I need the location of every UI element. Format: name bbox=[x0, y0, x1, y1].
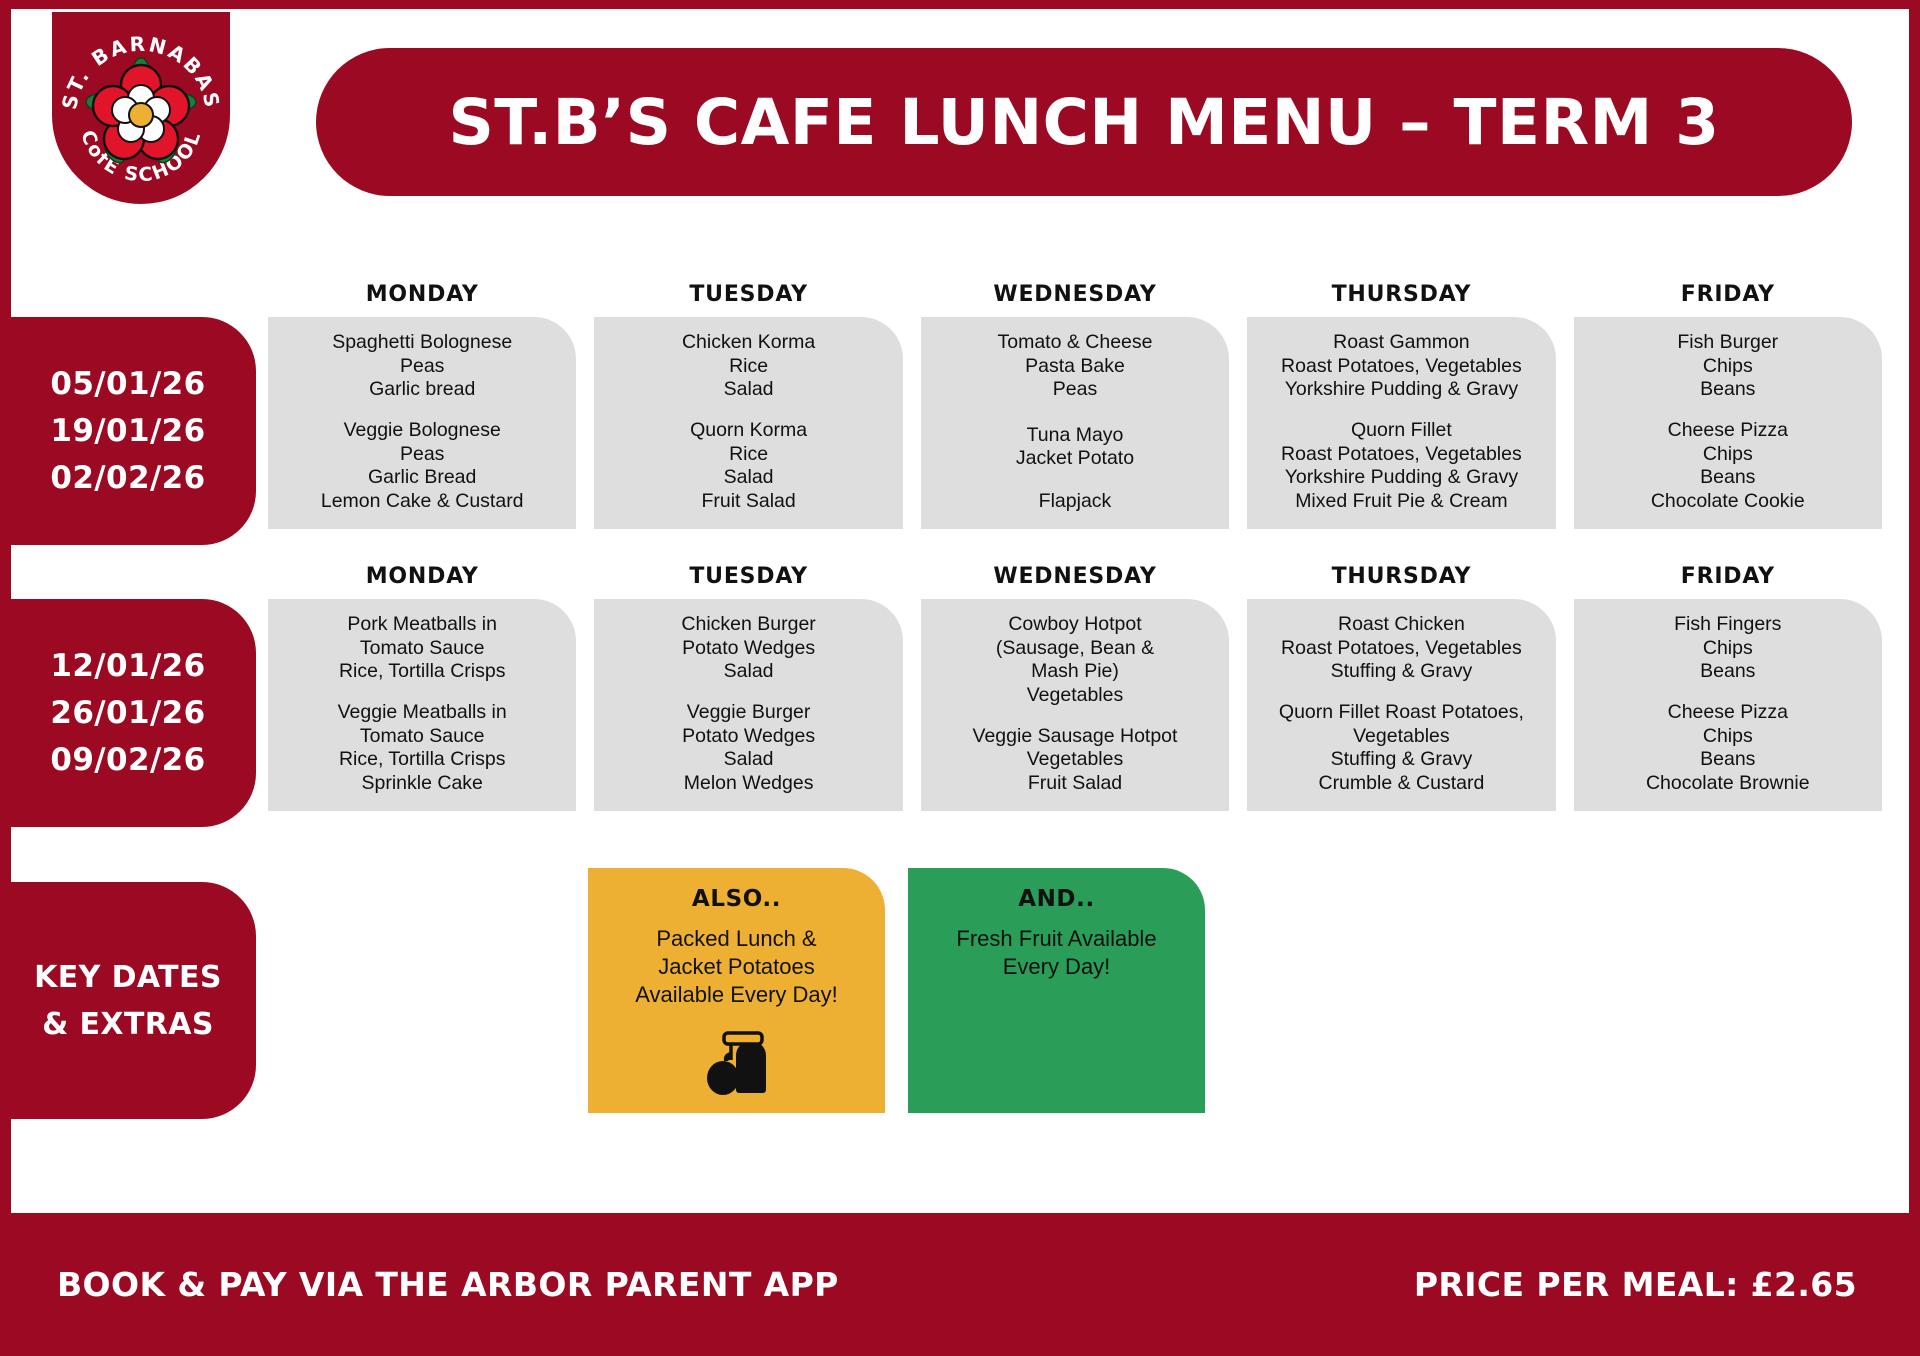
day-menu-card: Roast ChickenRoast Potatoes, VegetablesS… bbox=[1247, 599, 1555, 811]
menu-alt-line: Veggie Sausage Hotpot bbox=[929, 725, 1221, 749]
menu-alt-line: Jacket Potato bbox=[929, 447, 1221, 471]
day-menu-card: Chicken BurgerPotato WedgesSaladVeggie B… bbox=[594, 599, 902, 811]
menu-main-line: Fish Fingers bbox=[1582, 613, 1874, 637]
promo-card-fresh-fruit: AND.. Fresh Fruit Available Every Day! bbox=[908, 868, 1205, 1113]
page-title: ST.B’S CAFE LUNCH MENU – TERM 3 bbox=[448, 86, 1719, 159]
menu-dessert-line: Melon Wedges bbox=[602, 772, 894, 800]
menu-alt-line: Quorn Fillet Roast Potatoes, bbox=[1255, 701, 1547, 725]
menu-main-line: Fish Burger bbox=[1582, 331, 1874, 355]
key-dates-line-1: KEY DATES bbox=[34, 954, 222, 1001]
menu-main-line: Mash Pie) bbox=[929, 660, 1221, 684]
week2-date-3: 09/02/26 bbox=[50, 737, 205, 784]
menu-main-line: Salad bbox=[602, 378, 894, 402]
day-header-label: WEDNESDAY bbox=[921, 564, 1229, 589]
menu-dessert-line: Flapjack bbox=[929, 490, 1221, 518]
key-dates-extras-badge: KEY DATES & EXTRAS bbox=[0, 882, 256, 1119]
menu-group-spacer bbox=[276, 402, 568, 420]
promo-also-heading: ALSO.. bbox=[598, 886, 875, 912]
menu-main-line: Tomato & Cheese bbox=[929, 331, 1221, 355]
menu-main-line: Chips bbox=[1582, 637, 1874, 661]
menu-alt-line: Veggie Meatballs in bbox=[276, 701, 568, 725]
day-menu-card: Cowboy Hotpot(Sausage, Bean &Mash Pie)Ve… bbox=[921, 599, 1229, 811]
week1-dates-badge: 05/01/26 19/01/26 02/02/26 bbox=[0, 317, 256, 545]
promo-also-line-1: Packed Lunch & bbox=[598, 925, 875, 953]
day-menu-card: Fish FingersChipsBeansCheese PizzaChipsB… bbox=[1574, 599, 1882, 811]
day-column-friday: FRIDAYFish FingersChipsBeansCheese Pizza… bbox=[1574, 564, 1882, 811]
week1-date-1: 05/01/26 bbox=[50, 361, 205, 408]
menu-alt-line: Beans bbox=[1582, 466, 1874, 490]
menu-dessert-line: Fruit Salad bbox=[602, 490, 894, 518]
menu-title-banner: ST.B’S CAFE LUNCH MENU – TERM 3 bbox=[316, 48, 1852, 196]
day-header-label: MONDAY bbox=[268, 282, 576, 307]
menu-main-line: Chips bbox=[1582, 355, 1874, 379]
menu-dessert-line: Lemon Cake & Custard bbox=[276, 490, 568, 518]
menu-main-line: Rice bbox=[602, 355, 894, 379]
menu-main-line: Roast Potatoes, Vegetables bbox=[1255, 637, 1547, 661]
menu-main-line: Chicken Korma bbox=[602, 331, 894, 355]
footer-price-text: PRICE PER MEAL: £2.65 bbox=[1414, 1265, 1857, 1304]
week1-menu-grid: MONDAYSpaghetti BolognesePeasGarlic brea… bbox=[268, 282, 1882, 529]
day-header-label: FRIDAY bbox=[1574, 564, 1882, 589]
menu-group-spacer bbox=[929, 707, 1221, 725]
menu-group-spacer bbox=[602, 684, 894, 702]
school-crest-logo: ST. BARNABAS CofE SCHOOL bbox=[52, 12, 230, 204]
week2-dates-badge: 12/01/26 26/01/26 09/02/26 bbox=[0, 599, 256, 827]
day-menu-card: Pork Meatballs inTomato SauceRice, Torti… bbox=[268, 599, 576, 811]
menu-alt-line: Potato Wedges bbox=[602, 725, 894, 749]
menu-dessert-line: Sprinkle Cake bbox=[276, 772, 568, 800]
menu-main-line: Roast Chicken bbox=[1255, 613, 1547, 637]
day-menu-card: Fish BurgerChipsBeansCheese PizzaChipsBe… bbox=[1574, 317, 1882, 529]
menu-main-line: Stuffing & Gravy bbox=[1255, 660, 1547, 684]
day-menu-card: Spaghetti BolognesePeasGarlic breadVeggi… bbox=[268, 317, 576, 529]
day-header-label: TUESDAY bbox=[594, 282, 902, 307]
day-menu-card: Roast GammonRoast Potatoes, VegetablesYo… bbox=[1247, 317, 1555, 529]
week2-date-1: 12/01/26 bbox=[50, 643, 205, 690]
day-column-friday: FRIDAYFish BurgerChipsBeansCheese PizzaC… bbox=[1574, 282, 1882, 529]
menu-group-spacer bbox=[929, 402, 1221, 424]
menu-dessert-line: Fruit Salad bbox=[929, 772, 1221, 800]
menu-alt-line: Cheese Pizza bbox=[1582, 701, 1874, 725]
week1-date-3: 02/02/26 bbox=[50, 455, 205, 502]
crest-icon: ST. BARNABAS CofE SCHOOL bbox=[52, 12, 230, 204]
menu-alt-line: Veggie Bolognese bbox=[276, 419, 568, 443]
menu-main-line: Cowboy Hotpot bbox=[929, 613, 1221, 637]
day-header-label: THURSDAY bbox=[1247, 564, 1555, 589]
menu-alt-line: Salad bbox=[602, 748, 894, 772]
footer-booking-text: BOOK & PAY VIA THE ARBOR PARENT APP bbox=[57, 1265, 839, 1304]
promo-and-line-1: Fresh Fruit Available bbox=[918, 925, 1195, 953]
key-dates-line-2: & EXTRAS bbox=[42, 1001, 214, 1048]
menu-main-line: Potato Wedges bbox=[602, 637, 894, 661]
day-menu-card: Chicken KormaRiceSaladQuorn KormaRiceSal… bbox=[594, 317, 902, 529]
week2-menu-grid: MONDAYPork Meatballs inTomato SauceRice,… bbox=[268, 564, 1882, 811]
menu-alt-line: Vegetables bbox=[929, 748, 1221, 772]
menu-alt-line: Veggie Burger bbox=[602, 701, 894, 725]
menu-main-line: Rice, Tortilla Crisps bbox=[276, 660, 568, 684]
day-column-tuesday: TUESDAYChicken BurgerPotato WedgesSaladV… bbox=[594, 564, 902, 811]
menu-alt-line: Chips bbox=[1582, 443, 1874, 467]
menu-alt-line: Roast Potatoes, Vegetables bbox=[1255, 443, 1547, 467]
menu-alt-line: Yorkshire Pudding & Gravy bbox=[1255, 466, 1547, 490]
menu-alt-line: Chips bbox=[1582, 725, 1874, 749]
day-column-tuesday: TUESDAYChicken KormaRiceSaladQuorn Korma… bbox=[594, 282, 902, 529]
promo-and-line-2: Every Day! bbox=[918, 953, 1195, 981]
day-header-label: WEDNESDAY bbox=[921, 282, 1229, 307]
promo-also-line-3: Available Every Day! bbox=[598, 981, 875, 1009]
promo-and-heading: AND.. bbox=[918, 886, 1195, 912]
menu-main-line: Beans bbox=[1582, 660, 1874, 684]
promo-also-line-2: Jacket Potatoes bbox=[598, 953, 875, 981]
menu-main-line: Pasta Bake bbox=[929, 355, 1221, 379]
menu-alt-line: Stuffing & Gravy bbox=[1255, 748, 1547, 772]
menu-main-line: Yorkshire Pudding & Gravy bbox=[1255, 378, 1547, 402]
footer-bar: BOOK & PAY VIA THE ARBOR PARENT APP PRIC… bbox=[0, 1213, 1920, 1356]
promo-card-packed-lunch: ALSO.. Packed Lunch & Jacket Potatoes Av… bbox=[588, 868, 885, 1113]
week2-date-2: 26/01/26 bbox=[50, 690, 205, 737]
menu-dessert-line: Chocolate Brownie bbox=[1582, 772, 1874, 800]
menu-group-spacer bbox=[1255, 684, 1547, 702]
day-column-thursday: THURSDAYRoast ChickenRoast Potatoes, Veg… bbox=[1247, 564, 1555, 811]
menu-group-spacer bbox=[276, 684, 568, 702]
menu-main-line: Roast Gammon bbox=[1255, 331, 1547, 355]
day-column-thursday: THURSDAYRoast GammonRoast Potatoes, Vege… bbox=[1247, 282, 1555, 529]
menu-main-line: Peas bbox=[929, 378, 1221, 402]
menu-alt-line: Beans bbox=[1582, 748, 1874, 772]
menu-main-line: Garlic bread bbox=[276, 378, 568, 402]
menu-dessert-line: Chocolate Cookie bbox=[1582, 490, 1874, 518]
menu-main-line: (Sausage, Bean & bbox=[929, 637, 1221, 661]
menu-alt-line: Cheese Pizza bbox=[1582, 419, 1874, 443]
menu-alt-line: Garlic Bread bbox=[276, 466, 568, 490]
menu-main-line: Spaghetti Bolognese bbox=[276, 331, 568, 355]
menu-alt-line: Quorn Korma bbox=[602, 419, 894, 443]
day-header-label: TUESDAY bbox=[594, 564, 902, 589]
day-header-label: FRIDAY bbox=[1574, 282, 1882, 307]
menu-main-line: Roast Potatoes, Vegetables bbox=[1255, 355, 1547, 379]
menu-group-spacer bbox=[1582, 402, 1874, 420]
menu-main-line: Beans bbox=[1582, 378, 1874, 402]
day-column-monday: MONDAYPork Meatballs inTomato SauceRice,… bbox=[268, 564, 576, 811]
week1-date-2: 19/01/26 bbox=[50, 408, 205, 455]
menu-dessert-line: Crumble & Custard bbox=[1255, 772, 1547, 800]
menu-main-line: Salad bbox=[602, 660, 894, 684]
menu-group-spacer bbox=[1582, 684, 1874, 702]
menu-main-line: Peas bbox=[276, 355, 568, 379]
menu-alt-line: Tomato Sauce bbox=[276, 725, 568, 749]
menu-alt-line: Salad bbox=[602, 466, 894, 490]
menu-alt-line: Vegetables bbox=[1255, 725, 1547, 749]
menu-alt-line: Rice, Tortilla Crisps bbox=[276, 748, 568, 772]
menu-alt-line: Quorn Fillet bbox=[1255, 419, 1547, 443]
menu-dessert-line: Mixed Fruit Pie & Cream bbox=[1255, 490, 1547, 518]
menu-alt-line: Tuna Mayo bbox=[929, 424, 1221, 448]
day-header-label: THURSDAY bbox=[1247, 282, 1555, 307]
day-column-wednesday: WEDNESDAYCowboy Hotpot(Sausage, Bean &Ma… bbox=[921, 564, 1229, 811]
menu-group-spacer bbox=[602, 402, 894, 420]
day-menu-card: Tomato & CheesePasta BakePeasTuna MayoJa… bbox=[921, 317, 1229, 529]
menu-group-spacer bbox=[1255, 402, 1547, 420]
lunch-bag-apple-icon bbox=[598, 1023, 875, 1097]
day-column-wednesday: WEDNESDAYTomato & CheesePasta BakePeasTu… bbox=[921, 282, 1229, 529]
menu-main-line: Pork Meatballs in bbox=[276, 613, 568, 637]
menu-main-line: Tomato Sauce bbox=[276, 637, 568, 661]
poster-background: ST. BARNABAS CofE SCHOOL bbox=[0, 0, 1920, 1356]
day-column-monday: MONDAYSpaghetti BolognesePeasGarlic brea… bbox=[268, 282, 576, 529]
menu-main-line: Vegetables bbox=[929, 684, 1221, 708]
menu-alt-line: Rice bbox=[602, 443, 894, 467]
menu-main-line: Chicken Burger bbox=[602, 613, 894, 637]
day-header-label: MONDAY bbox=[268, 564, 576, 589]
menu-alt-line: Peas bbox=[276, 443, 568, 467]
